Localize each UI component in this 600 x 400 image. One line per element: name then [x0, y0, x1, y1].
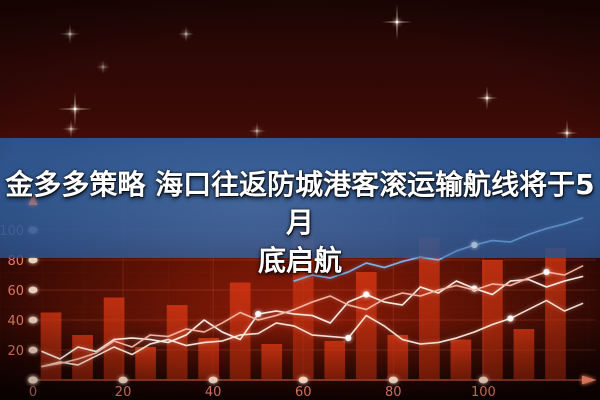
svg-text:40: 40 — [7, 314, 24, 329]
svg-text:20: 20 — [115, 385, 132, 400]
svg-text:100: 100 — [471, 385, 496, 400]
svg-text:80: 80 — [385, 385, 402, 400]
svg-text:20: 20 — [7, 344, 24, 359]
svg-text:0: 0 — [29, 385, 37, 400]
svg-text:60: 60 — [7, 284, 24, 299]
promo-banner: 204060801000204060801000 金多多策略 海口往返防城港客滚… — [0, 0, 600, 400]
headline-banner-band — [0, 138, 600, 258]
svg-text:60: 60 — [295, 385, 312, 400]
svg-text:40: 40 — [205, 385, 222, 400]
